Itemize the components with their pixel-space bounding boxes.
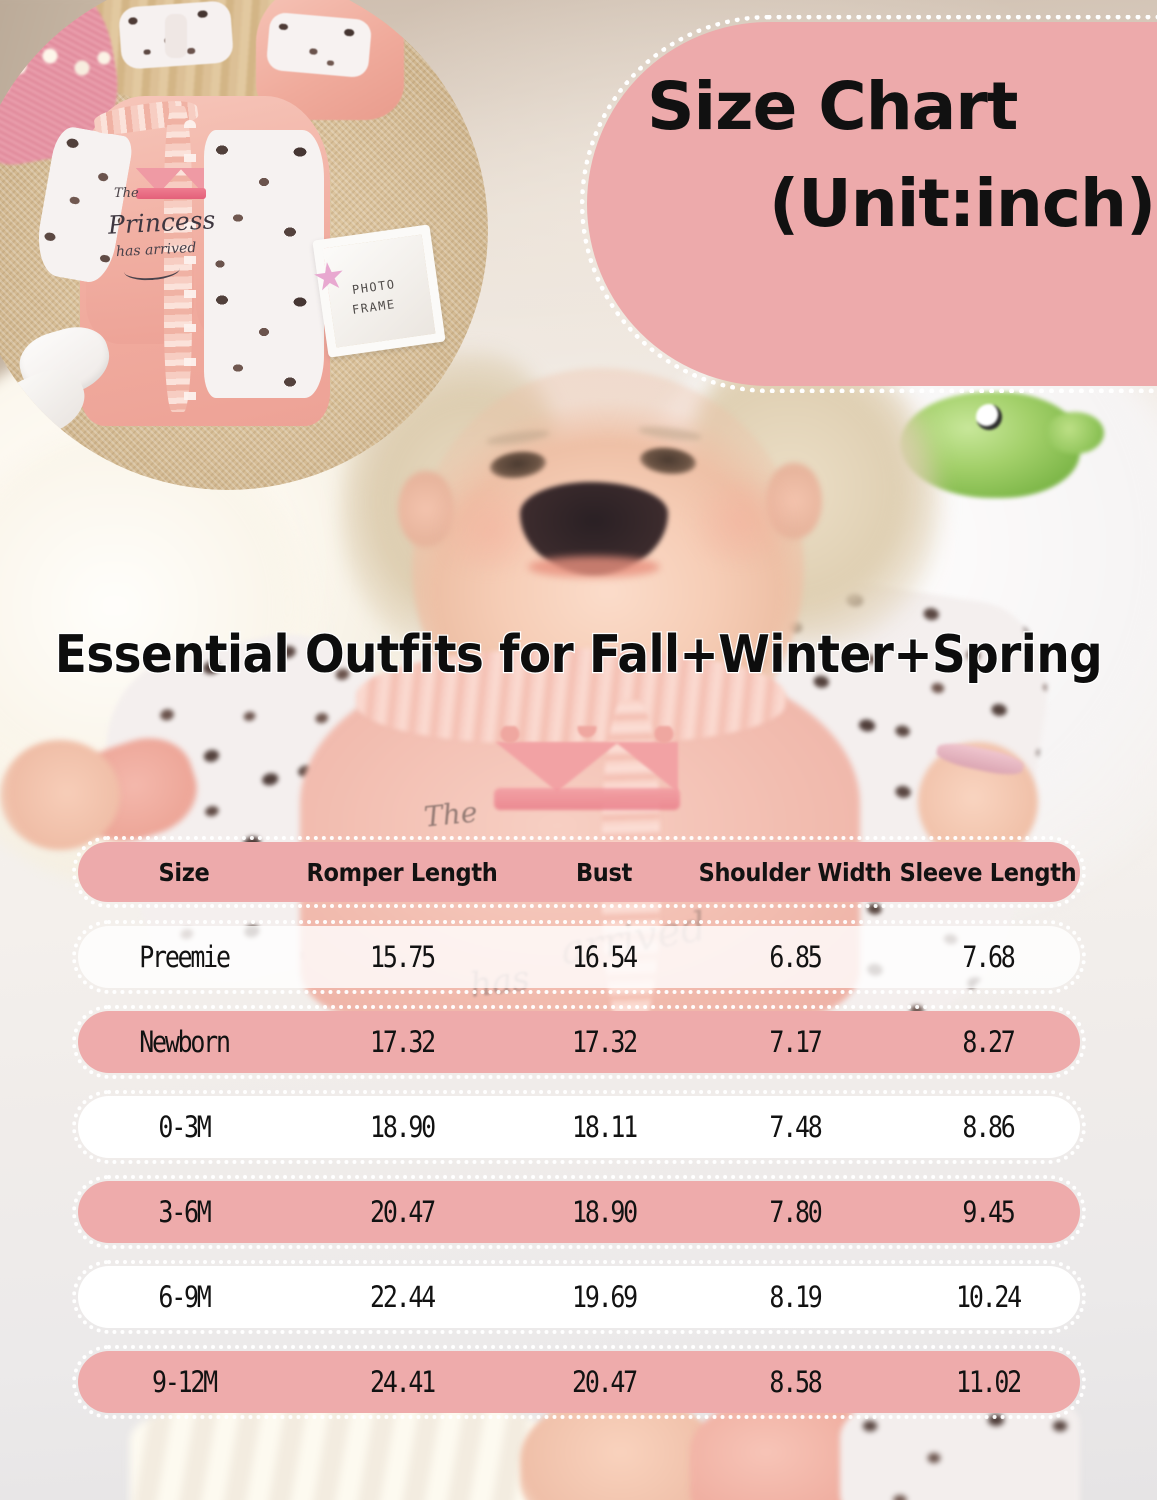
cell-size: 9-12M xyxy=(93,1365,275,1399)
cell-sleeve-length: 7.68 xyxy=(909,940,1067,974)
cell-bust: 18.11 xyxy=(527,1110,682,1144)
cell-shoulder-width: 7.17 xyxy=(708,1025,882,1059)
table-row: Preemie 15.75 16.54 6.85 7.68 xyxy=(78,926,1080,988)
flatlay-leopard-panel xyxy=(204,130,324,398)
cell-shoulder-width: 6.85 xyxy=(708,940,882,974)
leopard-hat-bow xyxy=(266,12,373,79)
cell-bust: 16.54 xyxy=(527,940,682,974)
cell-bust: 20.47 xyxy=(527,1365,682,1399)
product-flatlay-inset: The Princess has arrived PHOTO FRAME xyxy=(0,0,488,490)
cell-romper-length: 22.44 xyxy=(306,1280,499,1314)
green-toy-eye xyxy=(976,404,1002,430)
baby-hand-left xyxy=(0,740,120,850)
cell-bust: 18.90 xyxy=(527,1195,682,1229)
flatlay-text-princess: Princess xyxy=(107,205,216,240)
flatlay-text-the: The xyxy=(114,186,139,201)
column-header-shoulder-width: Shoulder Width xyxy=(694,858,896,887)
title-line-2: (Unit:inch) xyxy=(621,166,1157,241)
cell-size: Preemie xyxy=(93,940,275,974)
cell-bust: 19.69 xyxy=(527,1280,682,1314)
cell-size: 6-9M xyxy=(93,1280,275,1314)
title-line-1: Size Chart xyxy=(621,70,1157,144)
size-chart-title-banner: Size Chart (Unit:inch) xyxy=(587,22,1157,386)
cell-romper-length: 20.47 xyxy=(306,1195,499,1229)
column-header-romper-length: Romper Length xyxy=(290,858,514,887)
size-chart-title-text: Size Chart (Unit:inch) xyxy=(621,70,1157,241)
table-row: 0-3M 18.90 18.11 7.48 8.86 xyxy=(78,1096,1080,1158)
cell-size: 3-6M xyxy=(93,1195,275,1229)
cell-shoulder-width: 7.80 xyxy=(708,1195,882,1229)
table-header-row: Size Romper Length Bust Shoulder Width S… xyxy=(78,842,1080,902)
column-header-bust: Bust xyxy=(514,858,694,887)
cell-sleeve-length: 11.02 xyxy=(909,1365,1067,1399)
cell-sleeve-length: 9.45 xyxy=(909,1195,1067,1229)
table-row: 3-6M 20.47 18.90 7.80 9.45 xyxy=(78,1181,1080,1243)
cell-size: 0-3M xyxy=(93,1110,275,1144)
cell-sleeve-length: 8.27 xyxy=(909,1025,1067,1059)
leopard-headband-knot xyxy=(165,14,187,58)
dried-flowers-prop xyxy=(0,40,128,110)
cell-sleeve-length: 10.24 xyxy=(909,1280,1067,1314)
cell-romper-length: 17.32 xyxy=(306,1025,499,1059)
worn-romper-text-the: The xyxy=(422,795,478,833)
baby-lower-lip xyxy=(528,556,660,578)
size-chart-listing-image: The arrived has The Prin xyxy=(0,0,1157,1500)
size-chart-table: Size Romper Length Bust Shoulder Width S… xyxy=(78,842,1080,1436)
cell-shoulder-width: 7.48 xyxy=(708,1110,882,1144)
worn-romper-crown-band xyxy=(494,788,680,810)
cell-sleeve-length: 8.86 xyxy=(909,1110,1067,1144)
cell-shoulder-width: 8.58 xyxy=(708,1365,882,1399)
baby-cheek-right xyxy=(680,480,800,564)
column-header-size: Size xyxy=(78,858,290,887)
cell-romper-length: 18.90 xyxy=(306,1110,499,1144)
flatlay-crown-band xyxy=(136,188,206,199)
cell-size: Newborn xyxy=(93,1025,275,1059)
marketing-tagline: Essential Outfits for Fall+Winter+Spring xyxy=(0,625,1157,685)
cell-shoulder-width: 8.19 xyxy=(708,1280,882,1314)
green-toy-nose xyxy=(1046,412,1104,454)
cell-romper-length: 15.75 xyxy=(306,940,499,974)
table-row: 6-9M 22.44 19.69 8.19 10.24 xyxy=(78,1266,1080,1328)
cell-romper-length: 24.41 xyxy=(306,1365,499,1399)
column-header-sleeve-length: Sleeve Length xyxy=(896,858,1080,887)
cell-bust: 17.32 xyxy=(527,1025,682,1059)
table-row: Newborn 17.32 17.32 7.17 8.27 xyxy=(78,1011,1080,1073)
table-row: 9-12M 24.41 20.47 8.58 11.02 xyxy=(78,1351,1080,1413)
